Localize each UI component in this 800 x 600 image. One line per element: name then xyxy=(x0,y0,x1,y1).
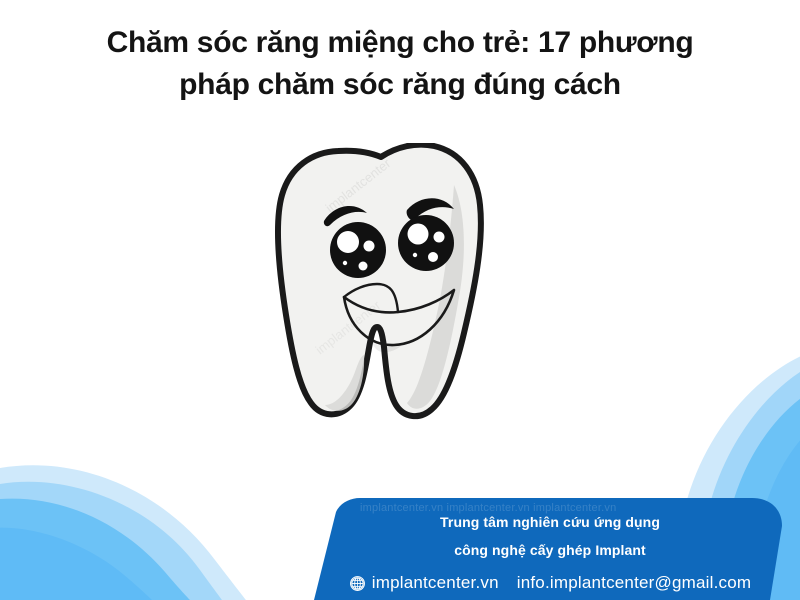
email-text[interactable]: info.implantcenter@gmail.com xyxy=(517,573,752,593)
poster-canvas: Chăm sóc răng miệng cho trẻ: 17 phương p… xyxy=(0,0,800,600)
wave-bottom-left-strong xyxy=(0,499,190,600)
website-text: implantcenter.vn xyxy=(372,573,499,593)
banner-content: implantcenter.vn implantcenter.vn implan… xyxy=(300,498,800,600)
eye-left-highlight-small xyxy=(364,241,375,252)
tooth-illustration: implantcenter implantcenter xyxy=(268,143,496,428)
page-title-line-2: pháp chăm sóc răng đúng cách xyxy=(0,64,800,106)
eye-left-highlight-main xyxy=(337,231,359,253)
page-title-line-1: Chăm sóc răng miệng cho trẻ: 17 phương xyxy=(0,22,800,64)
eye-right-highlight-main xyxy=(408,224,429,245)
website-group[interactable]: implantcenter.vn xyxy=(349,573,499,593)
page-title: Chăm sóc răng miệng cho trẻ: 17 phương p… xyxy=(0,22,800,106)
eye-left-highlight-dot xyxy=(343,261,347,265)
wave-bottom-left-deep xyxy=(0,528,152,600)
wave-bottom-left-mid xyxy=(0,482,222,600)
globe-icon xyxy=(349,575,366,592)
eye-right-highlight-small xyxy=(434,232,445,243)
eye-right-highlight-low xyxy=(428,252,438,262)
eye-left-highlight-low xyxy=(359,262,368,271)
tooth-svg: implantcenter implantcenter xyxy=(268,143,496,428)
contact-banner: implantcenter.vn implantcenter.vn implan… xyxy=(300,498,800,600)
eye-left xyxy=(330,222,386,278)
wave-bottom-left-light xyxy=(0,465,246,600)
eye-right-highlight-dot xyxy=(413,253,417,257)
banner-headline-line-2: công nghệ cấy ghép Implant xyxy=(300,542,800,558)
banner-headline-line-1: Trung tâm nghiên cứu ứng dụng xyxy=(300,514,800,530)
eye-right xyxy=(398,215,454,271)
banner-contact-row: implantcenter.vn info.implantcenter@gmai… xyxy=(300,568,800,598)
